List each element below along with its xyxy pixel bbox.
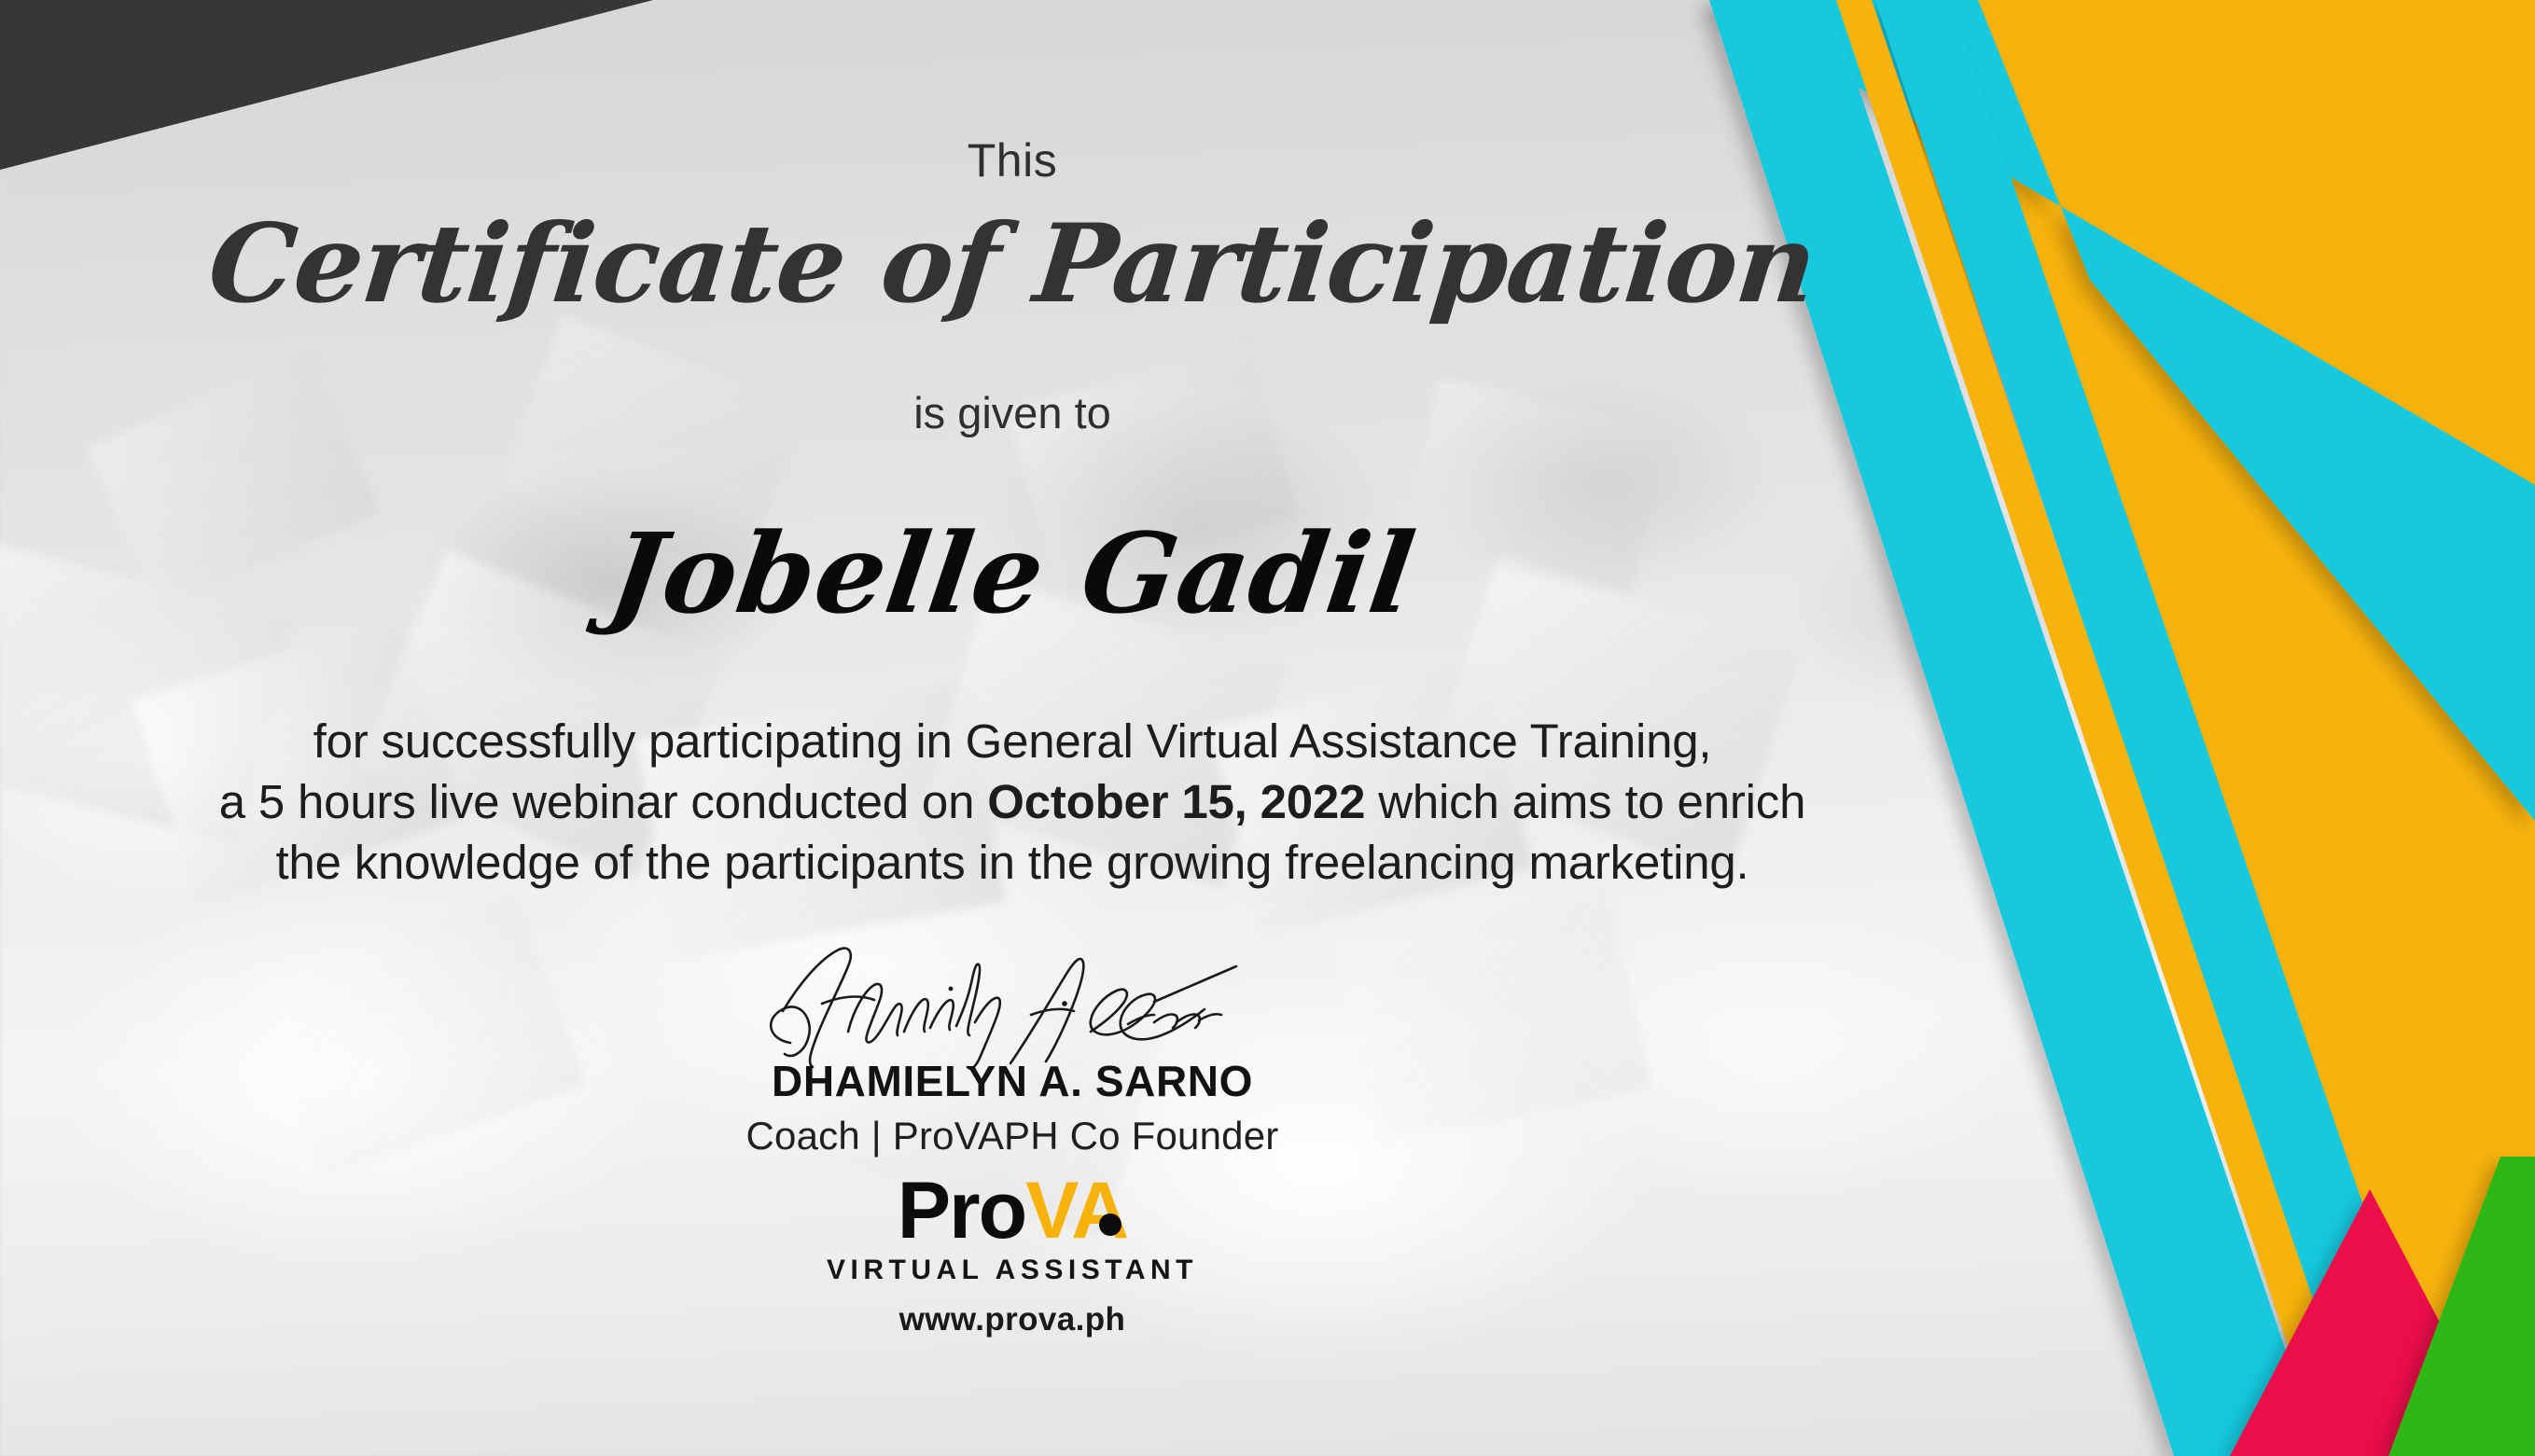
signature-block: DHAMIELYN A. SARNO Coach | ProVAPH Co Fo… [0,942,2025,1158]
citation-paragraph: for successfully participating in Genera… [0,711,2025,893]
brand-logo: ProVA VIRTUAL ASSISTANT www.prova.ph [0,1171,2025,1338]
certificate-title: Certificate of Participation [0,201,2031,327]
citation-line-2-suffix: which aims to enrich [1365,775,1805,828]
event-date: October 15, 2022 [987,775,1365,828]
signer-name: DHAMIELYN A. SARNO [0,1056,2025,1106]
citation-line-2-prefix: a 5 hours live webinar conducted on [219,775,988,828]
citation-line-2: a 5 hours live webinar conducted on Octo… [0,771,2025,832]
signer-role: Coach | ProVAPH Co Founder [0,1114,2025,1158]
logo-text-pro: Pro [898,1166,1025,1255]
citation-line-3: the knowledge of the participants in the… [0,832,2025,893]
certificate-content: This Certificate of Participation is giv… [0,0,2025,1456]
recipient-name: Jobelle Gadil [0,508,2034,638]
certificate-canvas: This Certificate of Participation is giv… [0,0,2535,1456]
citation-line-1: for successfully participating in Genera… [0,711,2025,771]
handwritten-signature-icon [751,942,1274,1073]
intro-label: This [0,133,2025,187]
given-to-label: is given to [0,387,2025,438]
logo-wordmark: ProVA [0,1171,2025,1251]
logo-text-va: VA [1025,1171,1127,1251]
logo-va-letters: VA [1025,1166,1127,1255]
logo-tagline: VIRTUAL ASSISTANT [0,1255,2025,1286]
website-url: www.prova.ph [0,1301,2025,1338]
